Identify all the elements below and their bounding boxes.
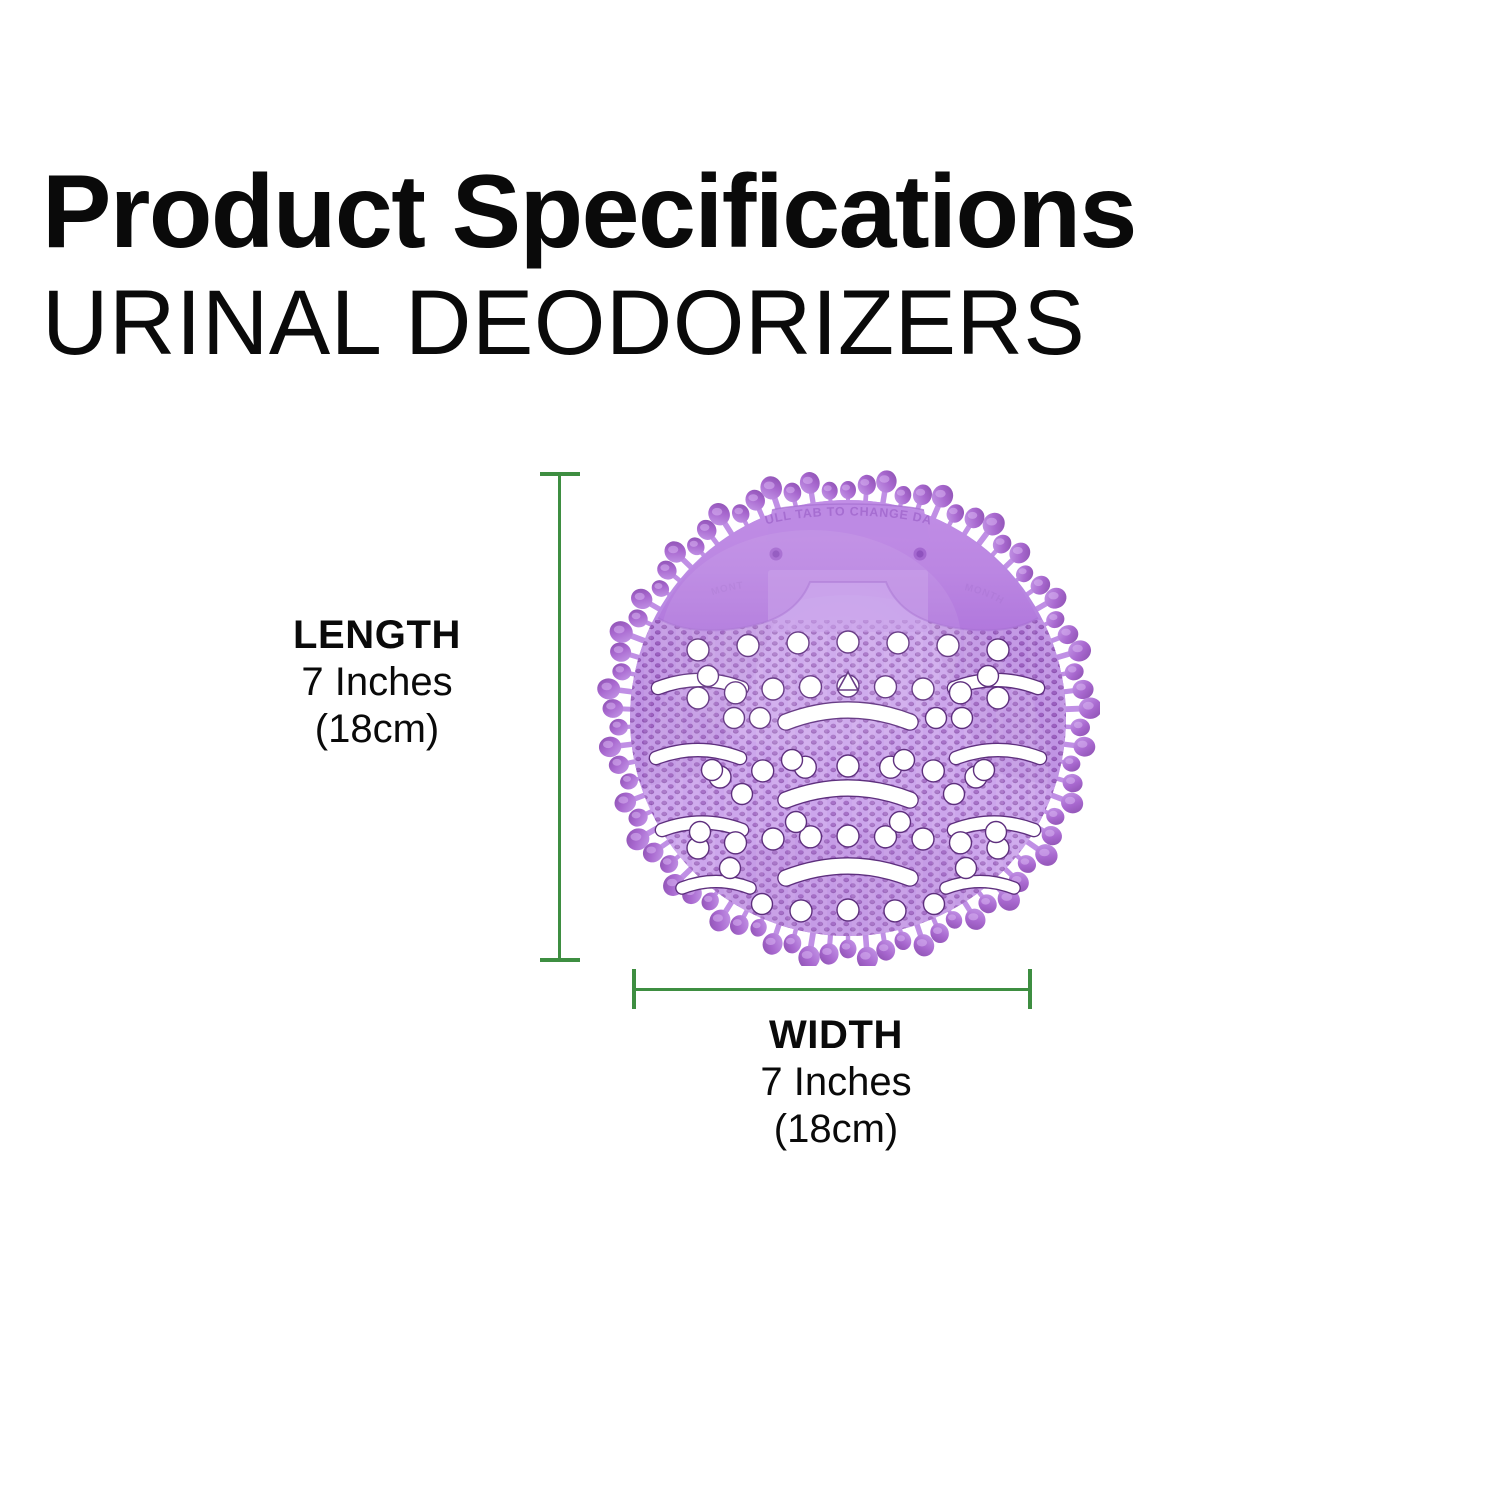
drain-hole-round <box>837 825 859 847</box>
drain-hole-round <box>837 899 859 921</box>
drain-hole-round <box>890 812 911 833</box>
drain-hole-round <box>720 858 741 879</box>
drain-hole-round <box>732 784 753 805</box>
product-specification-page: Product Specifications URINAL DEODORIZER… <box>0 0 1500 1500</box>
width-label: WIDTH 7 Inches (18cm) <box>706 1012 966 1154</box>
drain-hole-round <box>690 822 711 843</box>
drain-hole-round <box>837 755 859 777</box>
drain-hole-round <box>952 708 973 729</box>
drain-hole-round <box>987 687 1009 709</box>
drain-hole-round <box>725 832 747 854</box>
width-label-name: WIDTH <box>706 1012 966 1059</box>
product-image-urinal-screen: PULL TAB TO CHANGE DAY MONTH MONTH <box>596 470 1100 966</box>
drain-hole-round <box>790 900 812 922</box>
length-label-name: LENGTH <box>252 612 502 659</box>
drain-hole-round <box>702 760 723 781</box>
length-label-value: 7 Inches <box>252 659 502 706</box>
width-label-metric: (18cm) <box>706 1106 966 1153</box>
length-label-metric: (18cm) <box>252 706 502 753</box>
drain-hole-round <box>922 760 944 782</box>
drain-hole-round <box>978 666 999 687</box>
drain-hole-round <box>950 682 972 704</box>
drain-hole-round <box>912 828 934 850</box>
drain-hole-round <box>894 750 915 771</box>
page-subtitle: URINAL DEODORIZERS <box>42 272 1462 375</box>
length-guide-cap-bottom <box>540 958 580 962</box>
page-title: Product Specifications <box>42 160 1462 264</box>
length-guide-line <box>558 472 561 962</box>
drain-hole-round <box>950 832 972 854</box>
width-label-value: 7 Inches <box>706 1059 966 1106</box>
drain-hole-round <box>762 828 784 850</box>
drain-hole-round <box>944 784 965 805</box>
drain-hole-round <box>956 858 977 879</box>
drain-hole-round <box>752 760 774 782</box>
drain-hole-round <box>987 639 1009 661</box>
length-dimension-guide <box>538 472 582 962</box>
drain-hole-round <box>926 708 947 729</box>
width-guide-line <box>632 988 1032 991</box>
drain-hole-round <box>786 812 807 833</box>
drain-hole-round <box>752 894 773 915</box>
drain-hole-round <box>884 900 906 922</box>
heading-block: Product Specifications URINAL DEODORIZER… <box>42 160 1462 375</box>
width-dimension-guide <box>632 968 1032 1012</box>
drain-hole-round <box>924 894 945 915</box>
length-label: LENGTH 7 Inches (18cm) <box>252 612 502 754</box>
drain-hole-round <box>974 760 995 781</box>
width-guide-cap-right <box>1028 969 1032 1009</box>
drain-hole-round <box>782 750 803 771</box>
drain-hole-round <box>986 822 1007 843</box>
